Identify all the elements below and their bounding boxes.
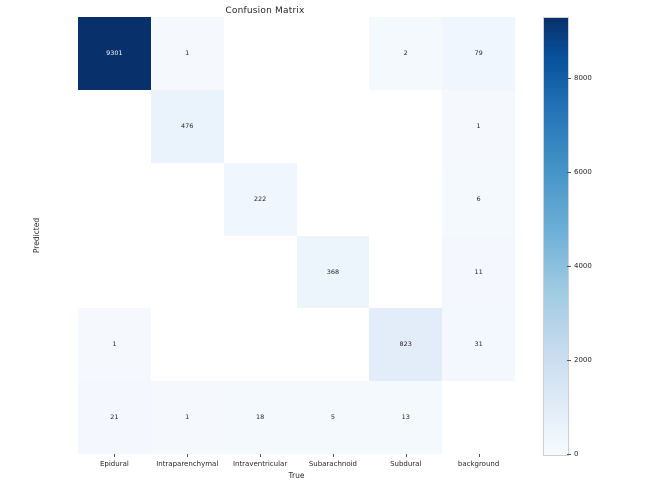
heatmap-cell [442,381,515,454]
x-axis-tick-labels: EpiduralIntraparenchymalIntraventricular… [78,456,515,470]
heatmap-cell-value: 18 [256,414,264,421]
heatmap-cell: 18 [224,381,297,454]
heatmap-cell [297,90,370,163]
heatmap-cell: 368 [297,236,370,309]
colorbar-tick: 2000 [567,356,592,364]
heatmap-cell: 2 [369,17,442,90]
heatmap-cell: 11 [442,236,515,309]
heatmap-cell-value: 1 [185,414,189,421]
confusion-matrix-figure: Confusion Matrix Predicted EpiduralIntra… [0,0,650,488]
y-axis-tick-labels: EpiduralIntraparenchymalIntraventricular… [58,17,76,454]
heatmap-cell-value: 1 [112,341,116,348]
heatmap-cell [297,308,370,381]
page-title: Confusion Matrix [0,6,530,16]
heatmap-cell [224,308,297,381]
heatmap-cell: 31 [442,308,515,381]
heatmap-cell: 1 [151,381,224,454]
x-tick-intraparenchymal: Intraparenchymal [151,456,224,470]
heatmap-cell [224,236,297,309]
heatmap-cell-value: 368 [327,269,339,276]
heatmap-cell: 21 [78,381,151,454]
heatmap-cell-value: 13 [402,414,410,421]
heatmap-cell [78,163,151,236]
heatmap-cell: 9301 [78,17,151,90]
plot-area: 93011279476122263681118233121118513 [78,17,515,454]
heatmap-cell-value: 2 [404,50,408,57]
colorbar-tick: 6000 [567,168,592,176]
heatmap-cell: 222 [224,163,297,236]
heatmap-cell-value: 1 [477,123,481,130]
y-axis-title: Predicted [30,17,44,454]
heatmap-cell [151,308,224,381]
x-tick-background: background [442,456,515,470]
heatmap-cell [369,163,442,236]
colorbar-tick: 4000 [567,262,592,270]
x-tick-subarachnoid: Subarachnoid [297,456,370,470]
heatmap-cell [78,236,151,309]
heatmap-cell-value: 1 [185,50,189,57]
heatmap-cell-value: 9301 [106,50,123,57]
x-tick-subdural: Subdural [369,456,442,470]
heatmap-cell [369,90,442,163]
heatmap-cell [297,17,370,90]
heatmap-cell [224,90,297,163]
x-axis-title: True [78,471,515,480]
heatmap-cell: 1 [78,308,151,381]
heatmap-cell: 5 [297,381,370,454]
heatmap-cell-value: 823 [400,341,412,348]
heatmap-cell [369,236,442,309]
heatmap-cell: 1 [442,90,515,163]
colorbar-gradient [543,17,569,456]
heatmap-cell-value: 222 [254,196,266,203]
heatmap-cell [151,236,224,309]
heatmap-cell: 6 [442,163,515,236]
heatmap-cell-value: 21 [110,414,118,421]
heatmap-cell: 823 [369,308,442,381]
colorbar-tick: 0 [567,450,578,458]
heatmap-cell: 1 [151,17,224,90]
x-tick-intraventricular: Intraventricular [224,456,297,470]
heatmap-cell [151,163,224,236]
y-axis-title-label: Predicted [33,218,42,253]
x-tick-epidural: Epidural [78,456,151,470]
heatmap-cell: 79 [442,17,515,90]
heatmap-cell [78,90,151,163]
colorbar-tick-labels: 02000400060008000 [567,17,627,454]
heatmap-cell [224,17,297,90]
heatmap-cell-value: 11 [474,269,482,276]
heatmap-cell-value: 79 [474,50,482,57]
heatmap-cell-value: 476 [181,123,193,130]
heatmap-cell: 476 [151,90,224,163]
colorbar-tick: 8000 [567,74,592,82]
heatmap-cell: 13 [369,381,442,454]
heatmap-cell [297,163,370,236]
heatmap-cell-value: 5 [331,414,335,421]
heatmap-cell-value: 31 [474,341,482,348]
heatmap-cell-value: 6 [477,196,481,203]
heatmap-grid: 93011279476122263681118233121118513 [78,17,515,454]
